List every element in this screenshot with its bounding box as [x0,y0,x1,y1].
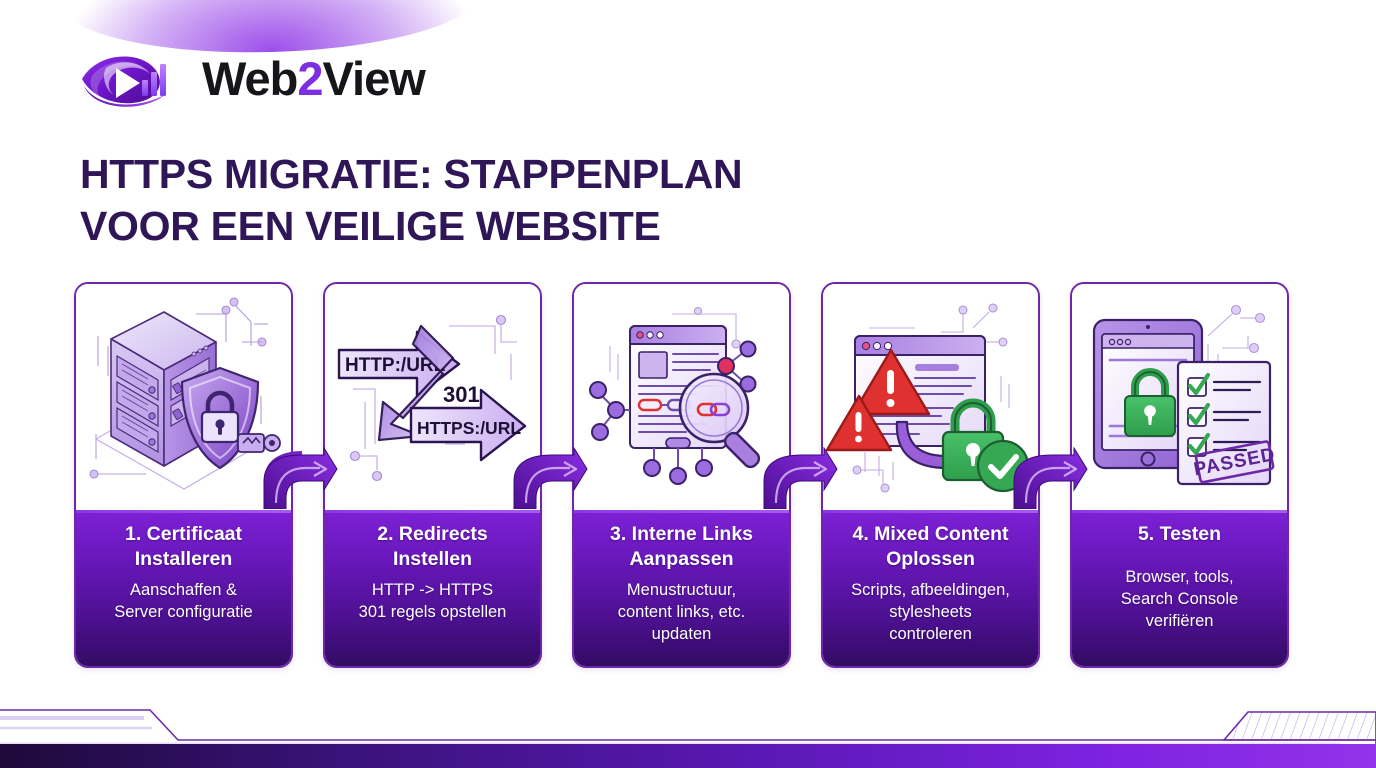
step-card-1-description: Aanschaffen & Server configuratie [114,580,253,624]
step-card-4-title: 4. Mixed Content Oplossen [852,522,1008,572]
footer-gradient-bar [0,744,1376,768]
step-card-2-title: 2. Redirects Instellen [377,522,488,572]
step-title-line2: Instellen [377,547,488,572]
page-title-line1: HTTPS MIGRATIE: STAPPENPLAN [80,148,980,200]
step-card-5-body: 5. Testen Browser, tools, Search Console… [1072,510,1287,666]
browser-link-magnifier-network-illustration [574,284,789,510]
warning-to-secure-lock-illustration [823,284,1038,510]
brand-name-accent: 2 [297,52,322,105]
step-title-line2: Oplossen [852,547,1008,572]
step-card-3-description: Menustructuur, content links, etc. updat… [618,580,745,646]
step-card-4-description: Scripts, afbeeldingen, stylesheets contr… [851,580,1010,646]
step-desc-line3: controleren [851,624,1010,646]
step-card-5-title: 5. Testen [1138,522,1221,547]
steps-row: 1. Certificaat Installeren Aanschaffen &… [74,282,1304,670]
step-desc-line2: content links, etc. [618,602,745,624]
step-card-1[interactable]: 1. Certificaat Installeren Aanschaffen &… [74,282,293,668]
step-desc-line1: Scripts, afbeeldingen, [851,580,1010,602]
svg-text:301: 301 [443,382,480,407]
infographic-page: Web2View HTTPS MIGRATIE: STAPPENPLAN VOO… [0,0,1376,768]
brand-name-part1: Web [202,52,297,105]
step-desc-line1: Browser, tools, [1121,567,1238,589]
step-card-3[interactable]: 3. Interne Links Aanpassen Menustructuur… [572,282,791,668]
step-title-line1: 2. Redirects [377,522,488,547]
step-card-5-description: Browser, tools, Search Console verifiëre… [1121,567,1238,633]
step-desc-line2: Server configuratie [114,602,253,624]
step-title-line1: 1. Certificaat [125,522,242,547]
step-card-4-body: 4. Mixed Content Oplossen Scripts, afbee… [823,510,1038,666]
step-desc-line2: Search Console [1121,589,1238,611]
svg-text:HTTPS:/URL: HTTPS:/URL [417,418,521,438]
brand-logo: Web2View [76,46,425,110]
step-card-3-body: 3. Interne Links Aanpassen Menustructuur… [574,510,789,666]
step-card-1-body: 1. Certificaat Installeren Aanschaffen &… [76,510,291,666]
step-desc-line1: Aanschaffen & [114,580,253,602]
tablet-checklist-passed-illustration: PASSED [1072,284,1287,510]
step-card-3-title: 3. Interne Links Aanpassen [610,522,753,572]
redirect-arrows-illustration: HTTP:/URL HTTPS:/URL 301 [325,284,540,510]
step-desc-line1: Menustructuur, [618,580,745,602]
step-card-4[interactable]: 4. Mixed Content Oplossen Scripts, afbee… [821,282,1040,668]
footer-decoration [0,678,1376,768]
step-desc-line3: updaten [618,624,745,646]
step-title-line1: 3. Interne Links [610,522,753,547]
page-title: HTTPS MIGRATIE: STAPPENPLAN VOOR EEN VEI… [80,148,980,252]
step-title-line2: Aanpassen [610,547,753,572]
step-desc-line2: stylesheets [851,602,1010,624]
eye-play-chart-logo-icon [76,46,188,110]
step-desc-line1: HTTP -> HTTPS [359,580,507,602]
server-rack-shield-lock-illustration [76,284,291,510]
step-title-line2: Installeren [125,547,242,572]
brand-wordmark: Web2View [202,55,425,102]
brand-name-part2: View [323,52,425,105]
step-card-5[interactable]: PASSED 5. Testen Browser, tools, Search … [1070,282,1289,668]
step-card-2-body: 2. Redirects Instellen HTTP -> HTTPS 301… [325,510,540,666]
step-desc-line2: 301 regels opstellen [359,602,507,624]
step-title-line1: 5. Testen [1138,522,1221,547]
step-desc-line3: verifiëren [1121,611,1238,633]
step-title-line1: 4. Mixed Content [852,522,1008,547]
step-card-1-title: 1. Certificaat Installeren [125,522,242,572]
step-card-2-description: HTTP -> HTTPS 301 regels opstellen [359,580,507,624]
step-card-2[interactable]: HTTP:/URL HTTPS:/URL 301 2. Redirects In… [323,282,542,668]
page-title-line2: VOOR EEN VEILIGE WEBSITE [80,200,980,252]
